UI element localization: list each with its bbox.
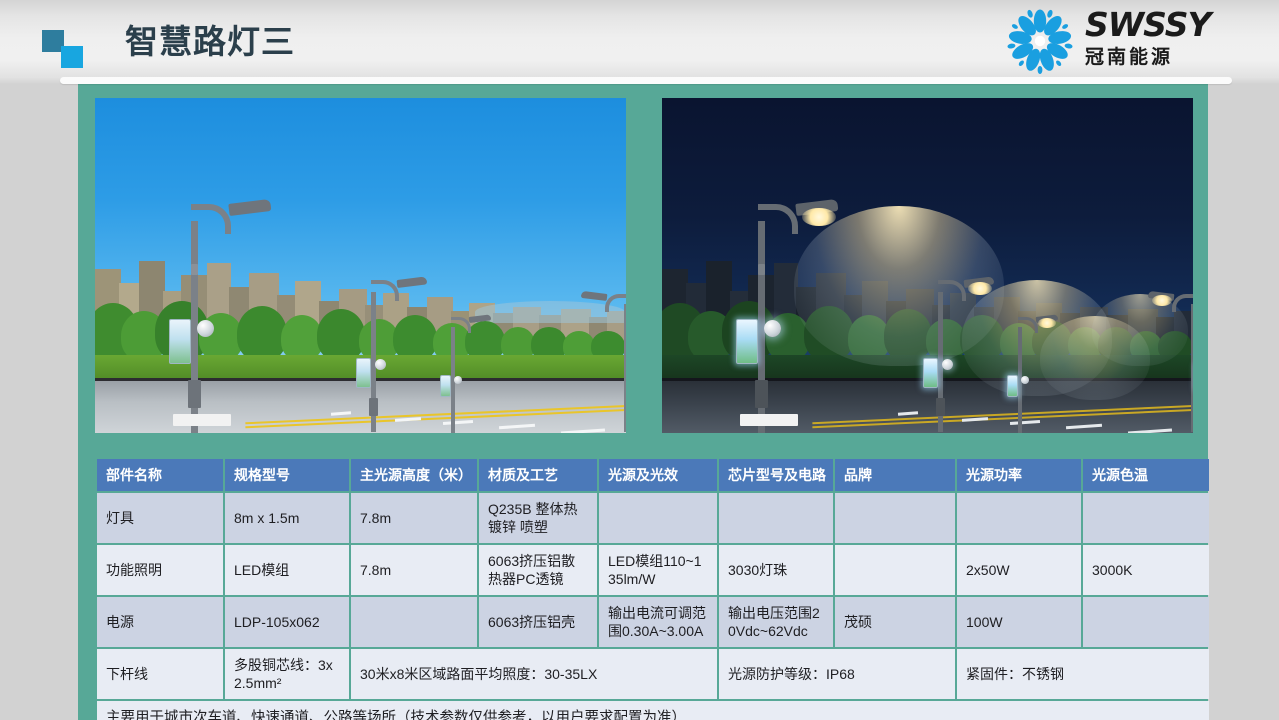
cell-light-effic: LED模组110~135lm/W: [599, 545, 717, 595]
column-header-height: 主光源高度（米）: [351, 459, 477, 491]
cell-part-name: 电源: [97, 597, 223, 647]
smart-streetlight-day-photo: [95, 98, 626, 433]
column-header-model: 规格型号: [225, 459, 349, 491]
cell-height: 7.8m: [351, 545, 477, 595]
company-logo: SWSSY 冠南能源: [1001, 4, 1261, 78]
brand-name-cn: 冠南能源: [1085, 45, 1261, 71]
streetlight-pole: [371, 280, 441, 432]
cell-color-temp: 3000K: [1083, 545, 1209, 595]
table-row-merged: 下杆线 多股铜芯线：3x2.5mm² 30米x8米区域路面平均照度：30-35L…: [97, 649, 1209, 699]
cell-model: 多股铜芯线：3x2.5mm²: [225, 649, 349, 699]
page-title: 智慧路灯三: [125, 20, 295, 64]
cell-light-effic: [599, 493, 717, 543]
streetlight-pole: [569, 294, 626, 432]
streetlight-pole: [758, 204, 854, 433]
cell-material: Q235B 整体热镀锌 喷塑: [479, 493, 597, 543]
column-header-brand: 品牌: [835, 459, 955, 491]
column-header-power: 光源功率: [957, 459, 1081, 491]
cell-protection: 光源防护等级：IP68: [719, 649, 955, 699]
specification-table: 部件名称 规格型号 主光源高度（米） 材质及工艺 光源及光效 芯片型号及电路 品…: [95, 457, 1211, 720]
brand-name-en: SWSSY: [1085, 8, 1261, 42]
table-row: 电源 LDP-105x062 6063挤压铝壳 输出电流可调范围0.30A~3.…: [97, 597, 1209, 647]
cell-model: LDP-105x062: [225, 597, 349, 647]
cell-power: 2x50W: [957, 545, 1081, 595]
cell-model: LED模组: [225, 545, 349, 595]
cell-height: [351, 597, 477, 647]
led-banner-display: [169, 319, 191, 364]
table-note-row: 主要用于城市次车道、快速通道、公路等场所（技术参数仅供参考，以用户要求配置为准）: [97, 701, 1209, 720]
cell-fastener: 紧固件：不锈钢: [957, 649, 1209, 699]
streetlight-pole: [938, 280, 1008, 432]
cell-color-temp: [1083, 597, 1209, 647]
cell-color-temp: [1083, 493, 1209, 543]
decor-square-light-icon: [61, 46, 83, 68]
cell-power: [957, 493, 1081, 543]
cell-chip: 3030灯珠: [719, 545, 833, 595]
cell-part-name: 下杆线: [97, 649, 223, 699]
cell-chip: 输出电压范围20Vdc~62Vdc: [719, 597, 833, 647]
table-row: 功能照明 LED模组 7.8m 6063挤压铝散热器PC透镜 LED模组110~…: [97, 545, 1209, 595]
logo-text: SWSSY 冠南能源: [1085, 8, 1261, 71]
table-note: 主要用于城市次车道、快速通道、公路等场所（技术参数仅供参考，以用户要求配置为准）: [97, 701, 1209, 720]
cell-brand: 茂硕: [835, 597, 955, 647]
water-droplet-circle-logo-icon: [1001, 8, 1079, 74]
column-header-part-name: 部件名称: [97, 459, 223, 491]
cell-material: 6063挤压铝散热器PC透镜: [479, 545, 597, 595]
cell-height: 7.8m: [351, 493, 477, 543]
cell-light-effic: 输出电流可调范围0.30A~3.00A: [599, 597, 717, 647]
column-header-color-temp: 光源色温: [1083, 459, 1209, 491]
cell-power: 100W: [957, 597, 1081, 647]
column-header-light-effic: 光源及光效: [599, 459, 717, 491]
page-header: 智慧路灯三: [0, 0, 1279, 84]
streetlight-pole: [191, 204, 287, 433]
streetlight-pole: [1136, 294, 1193, 432]
cell-part-name: 灯具: [97, 493, 223, 543]
smart-streetlight-night-photo: [662, 98, 1193, 433]
streetlight-pole: [1018, 317, 1068, 433]
column-header-material: 材质及工艺: [479, 459, 597, 491]
cell-brand: [835, 493, 955, 543]
content-panel: 部件名称 规格型号 主光源高度（米） 材质及工艺 光源及光效 芯片型号及电路 品…: [78, 82, 1208, 720]
table-header-row: 部件名称 规格型号 主光源高度（米） 材质及工艺 光源及光效 芯片型号及电路 品…: [97, 459, 1209, 491]
cell-brand: [835, 545, 955, 595]
table-row: 灯具 8m x 1.5m 7.8m Q235B 整体热镀锌 喷塑: [97, 493, 1209, 543]
column-header-chip: 芯片型号及电路: [719, 459, 833, 491]
header-divider-rule: [60, 77, 1232, 84]
cell-chip: [719, 493, 833, 543]
led-banner-display: [736, 319, 758, 364]
cell-model: 8m x 1.5m: [225, 493, 349, 543]
cell-part-name: 功能照明: [97, 545, 223, 595]
streetlight-pole: [451, 317, 501, 433]
cell-illuminance: 30米x8米区域路面平均照度：30-35LX: [351, 649, 717, 699]
cell-material: 6063挤压铝壳: [479, 597, 597, 647]
